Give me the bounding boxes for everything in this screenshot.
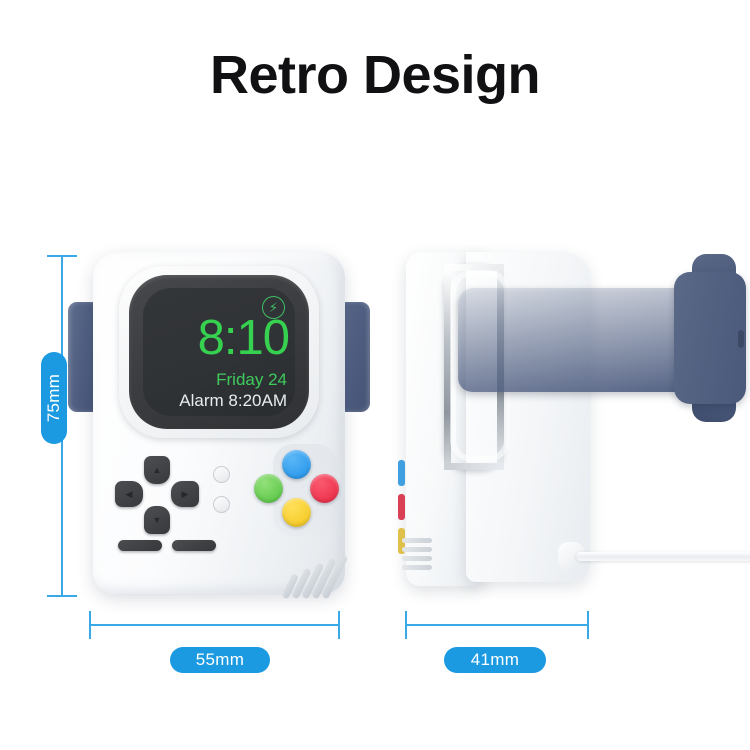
dpad-right-icon: ▶ — [171, 481, 199, 507]
side-width-dimension-line — [406, 624, 589, 626]
watch-date: Friday 24 — [143, 371, 287, 388]
dpad-down-icon: ▼ — [144, 506, 170, 534]
watch-holder-bezel: ⚡ 8:10 Friday 24 Alarm 8:20AM — [119, 266, 319, 438]
watch-screen: ⚡ 8:10 Friday 24 Alarm 8:20AM — [143, 288, 295, 416]
clasp-notch — [738, 330, 744, 348]
charging-cable — [576, 552, 750, 561]
side-width-dimension-badge: 41mm — [444, 647, 546, 673]
side-width-cap-right — [587, 611, 589, 639]
pill-buttons — [118, 540, 218, 554]
dpad-up-icon: ▲ — [144, 456, 170, 484]
speaker-grille-side — [402, 538, 436, 572]
dpad: ▲ ▼ ◀ ▶ — [115, 456, 199, 534]
watch-alarm: Alarm 8:20AM — [143, 392, 287, 409]
front-width-dimension-badge: 55mm — [170, 647, 270, 673]
action-button-yellow — [282, 498, 311, 527]
game-controls-panel: ▲ ▼ ◀ ▶ — [93, 448, 345, 594]
action-button-red — [310, 474, 339, 503]
pill-button-select — [118, 540, 162, 551]
page-title: Retro Design — [0, 44, 750, 106]
dpad-left-icon: ◀ — [115, 481, 143, 507]
action-button-green — [254, 474, 283, 503]
height-dimension-cap-bottom — [47, 595, 77, 597]
action-button-blue — [282, 450, 311, 479]
watch-time: 8:10 — [143, 314, 289, 363]
side-width-cap-left — [405, 611, 407, 639]
height-dimension-badge: 75mm — [41, 352, 67, 444]
front-width-cap-left — [89, 611, 91, 639]
indicator-dot — [213, 466, 230, 483]
watch-band-clasp — [674, 272, 746, 404]
front-width-dimension-line — [90, 624, 340, 626]
front-width-cap-right — [338, 611, 340, 639]
height-dimension-cap-top — [47, 255, 77, 257]
product-image-canvas: Retro Design ⚡ 8:10 Friday 24 Alarm 8:20… — [0, 0, 750, 750]
front-view-product: ⚡ 8:10 Friday 24 Alarm 8:20AM ▲ ▼ ◀ ▶ — [93, 252, 345, 594]
action-button-cluster — [251, 450, 331, 532]
side-edge-button-blue — [398, 460, 405, 486]
pill-button-start — [172, 540, 216, 551]
speaker-grille-front — [281, 544, 337, 592]
indicator-dots — [213, 466, 231, 524]
watch-frame: ⚡ 8:10 Friday 24 Alarm 8:20AM — [129, 275, 309, 429]
side-edge-button-red — [398, 494, 405, 520]
indicator-dot — [213, 496, 230, 513]
side-view-product — [406, 252, 750, 596]
